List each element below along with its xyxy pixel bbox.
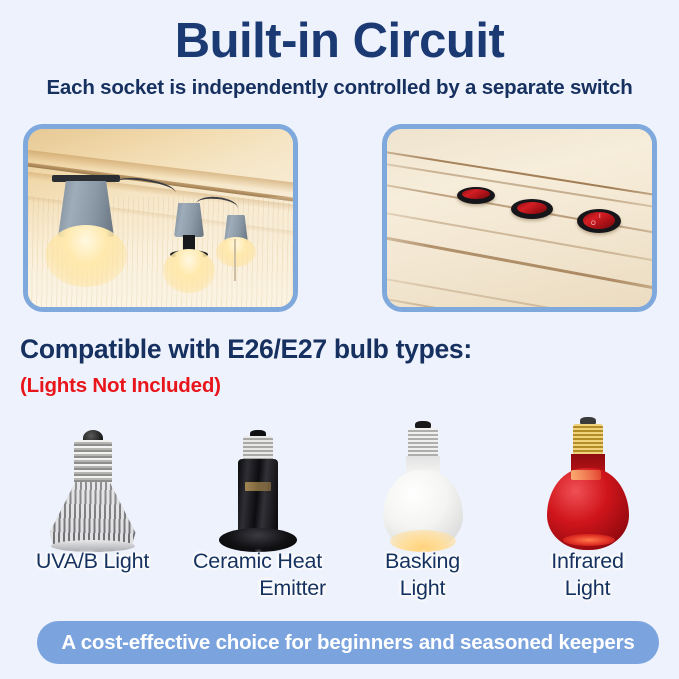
bulb-screw-base <box>74 440 112 486</box>
red-rocker-switches-photo: I O <box>382 124 657 312</box>
bulb-screw-base <box>573 424 603 456</box>
bulb-label-line1: UVA/B Light <box>36 549 149 573</box>
hanging-lamp-fixtures-photo <box>23 124 298 312</box>
wood-grain-line <box>387 289 652 307</box>
basking-bulb-icon <box>383 418 463 554</box>
wood-grain-line <box>387 227 652 302</box>
uvab-bulb-icon <box>50 426 136 554</box>
infographic-page: Built-in Circuit Each socket is independ… <box>0 0 679 679</box>
bulb-label-line2: Light <box>505 575 670 602</box>
bulb-label-line1: Basking <box>385 549 460 573</box>
bulb-label-line1: Infrared <box>551 549 624 573</box>
photo-row: I O <box>23 124 657 312</box>
bulb-screw-base <box>408 428 438 458</box>
switch-panel-scene: I O <box>387 129 652 307</box>
lamp-fixture <box>58 181 114 237</box>
lamp-glow <box>163 249 215 293</box>
wood-grain-line <box>387 143 652 207</box>
switch-on-marking: I <box>599 214 601 220</box>
rocker-switch-cap <box>517 202 547 214</box>
switch-off-marking: O <box>591 221 596 227</box>
bulb-row <box>10 404 670 554</box>
ceiling-scene <box>28 129 293 307</box>
bulb-filament <box>571 470 601 480</box>
emitter-body <box>238 459 278 531</box>
bulb-label-line2: Emitter <box>175 575 340 602</box>
compatibility-title: Compatible with E26/E27 bulb types: <box>20 334 472 365</box>
bulb-label-row: UVA/B Light Ceramic Heat Emitter Basking… <box>10 548 670 608</box>
bulb-label-uvab: UVA/B Light <box>10 548 175 608</box>
page-title: Built-in Circuit <box>0 16 679 67</box>
lamp-glow <box>216 237 256 267</box>
lights-not-included-note: (Lights Not Included) <box>20 374 221 398</box>
bulb-label-infrared: Infrared Light <box>505 548 670 608</box>
rocker-switch: I O <box>577 209 621 233</box>
lamp-fixture <box>224 215 248 243</box>
lamp-glow <box>45 225 127 287</box>
bulb-label-line1: Ceramic Heat <box>193 549 322 573</box>
rocker-switch <box>457 187 495 204</box>
lamp-fixture <box>174 203 204 237</box>
bulb-hotspot <box>563 534 615 546</box>
ceramic-heat-emitter-bulb-icon <box>219 426 297 554</box>
bulb-label-ceramic-heat-emitter: Ceramic Heat Emitter <box>175 548 340 608</box>
bottom-banner: A cost-effective choice for beginners an… <box>37 621 659 664</box>
lamp-shade-icon <box>174 203 204 237</box>
rocker-switch <box>511 199 553 219</box>
bulb-cell-basking <box>340 404 505 554</box>
emitter-logo <box>245 482 271 491</box>
bulb-reflector <box>50 482 136 544</box>
bottom-banner-text: A cost-effective choice for beginners an… <box>61 631 634 655</box>
bulb-label-basking: Basking Light <box>340 548 505 608</box>
bulb-cell-infrared <box>505 404 670 554</box>
bulb-cell-uvab <box>10 404 175 554</box>
wood-grain-line <box>387 269 652 307</box>
infrared-bulb-icon <box>547 414 629 554</box>
bulb-label-line2: Light <box>340 575 505 602</box>
bulb-cell-ceramic-heat-emitter <box>175 404 340 554</box>
hanging-cord <box>234 239 236 281</box>
page-subtitle: Each socket is independently controlled … <box>0 76 679 100</box>
rocker-switch-cap <box>462 189 490 199</box>
